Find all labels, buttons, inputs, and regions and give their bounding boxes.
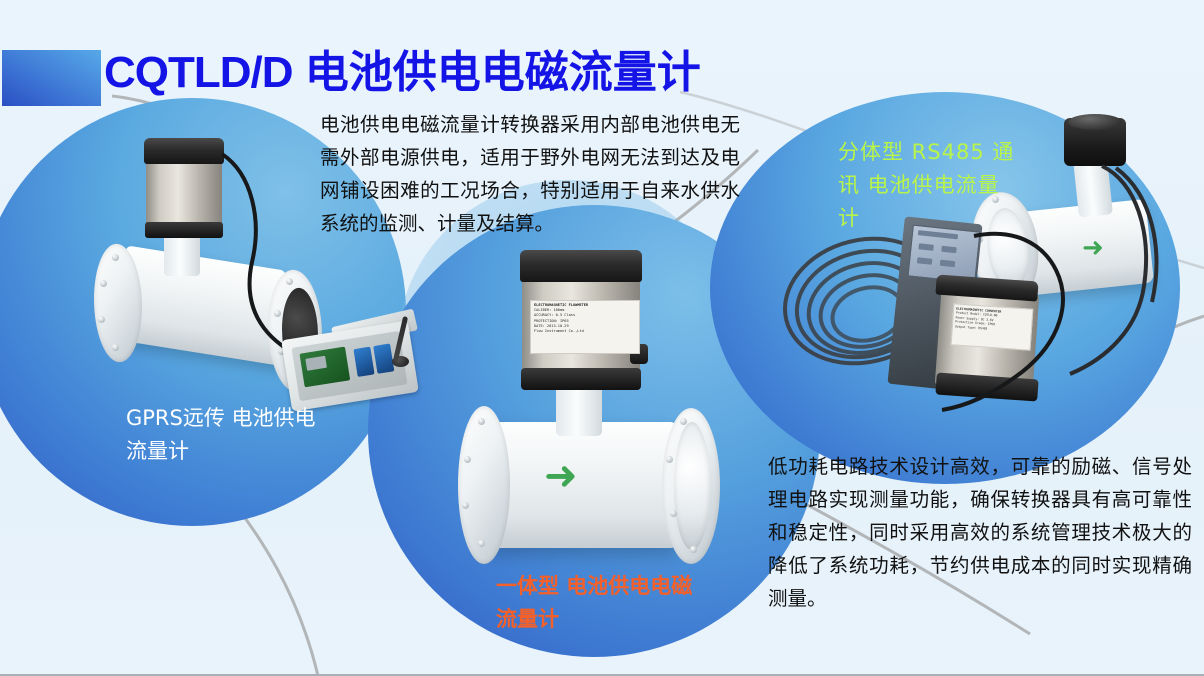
page-title-name: 电池供电电磁流量计 — [305, 48, 701, 97]
spec-maker: Flow Instrument Co.,Ltd — [534, 329, 636, 334]
product-label-gprs: GPRS远传 电池供电流量计 — [126, 402, 336, 468]
product-label-integral: 一体型 电池供电电磁流量计 — [496, 570, 696, 636]
title-accent-bar — [2, 50, 101, 106]
page-title-model: CQTLD/D — [104, 48, 293, 97]
product-photo-integral: ➜ ELECTROMAGNETIC FLOWMETER CALIBER: 100… — [440, 240, 760, 590]
intro-paragraph: 电池供电电磁流量计转换器采用内部电池供电无需外部电源供电，适用于野外电网无法到达… — [320, 108, 740, 240]
page-title: CQTLD/D 电池供电电磁流量计 — [104, 36, 701, 100]
feature-paragraph: 低功耗电路技术设计高效，可靠的励磁、信号处理电路实现测量功能，确保转换器具有高可… — [768, 450, 1192, 615]
slide-canvas: ➜ ELECTROMAGNETIC FLOWMETER CALIBER: 100… — [0, 0, 1204, 676]
meter-spec-label: ELECTROMAGNETIC FLOWMETER CALIBER: 100mm… — [530, 300, 640, 354]
product-label-rs485: 分体型 RS485 通讯 电池供电流量计 — [838, 136, 1018, 235]
flow-direction-arrow: ➜ — [544, 456, 578, 496]
